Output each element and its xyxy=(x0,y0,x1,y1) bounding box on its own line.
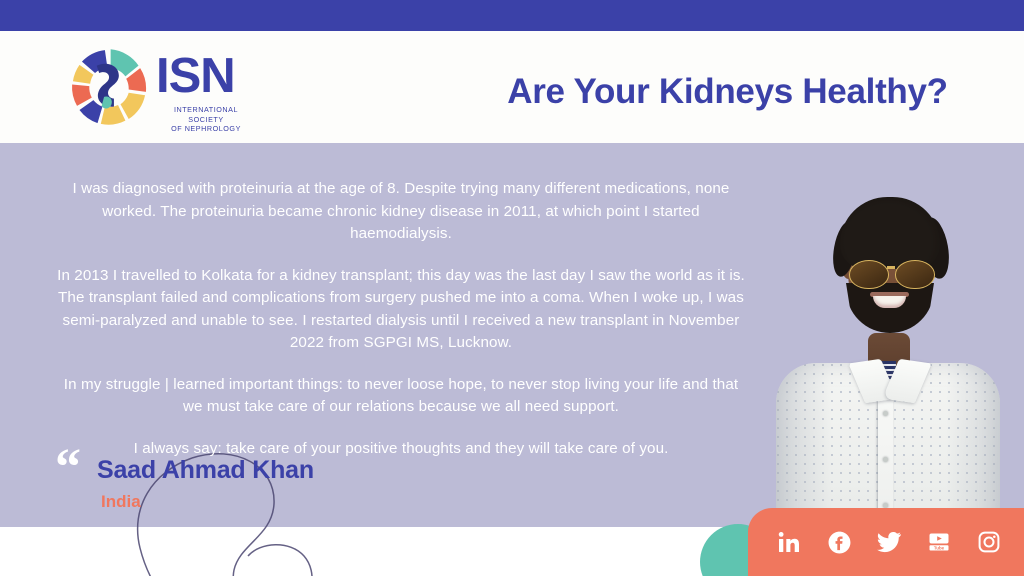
logo-text: ISN xyxy=(156,52,256,101)
story-quote: I was diagnosed with proteinuria at the … xyxy=(56,178,746,460)
twitter-icon[interactable] xyxy=(876,529,902,555)
isn-logo[interactable]: ISN INTERNATIONAL SOCIETY OF NEPHROLOGY xyxy=(68,42,253,134)
portrait-shirt-button xyxy=(883,457,888,462)
portrait-hair xyxy=(840,197,940,269)
portrait-lens-left xyxy=(849,260,889,289)
logo-subtitle-line2: OF NEPHROLOGY xyxy=(171,124,241,133)
isn-circular-kidney-logo-icon xyxy=(68,46,150,128)
author-name: Saad Ahmad Khan xyxy=(97,456,314,485)
story-paragraph: In my struggle | learned important thing… xyxy=(56,374,746,419)
portrait-beard xyxy=(846,283,934,333)
portrait-lens-right xyxy=(895,260,935,289)
story-paragraph: In 2013 I travelled to Kolkata for a kid… xyxy=(56,265,746,355)
instagram-icon[interactable] xyxy=(976,529,1002,555)
slide-canvas: ISN INTERNATIONAL SOCIETY OF NEPHROLOGY … xyxy=(0,0,1024,576)
logo-subtitle-line1: INTERNATIONAL SOCIETY xyxy=(174,105,238,124)
story-paragraph: I was diagnosed with proteinuria at the … xyxy=(56,178,746,246)
top-accent-bar xyxy=(0,0,1024,31)
logo-subtitle: INTERNATIONAL SOCIETY OF NEPHROLOGY xyxy=(156,105,256,134)
portrait-glasses-bridge xyxy=(887,266,895,269)
facebook-icon[interactable] xyxy=(826,529,852,555)
portrait-shirt-button xyxy=(883,411,888,416)
youtube-icon[interactable]: Tube xyxy=(926,529,952,555)
linkedin-icon[interactable] xyxy=(776,529,802,555)
portrait-sunglasses-icon xyxy=(847,260,935,287)
portrait-alt-text: Portrait of Saad Ahmad Khan wearing sung… xyxy=(770,165,771,166)
quote-mark-icon: “ xyxy=(55,449,81,487)
page-title: Are Your Kidneys Healthy? xyxy=(455,72,1000,112)
social-bar: Tube xyxy=(748,508,1024,576)
svg-text:Tube: Tube xyxy=(934,545,945,550)
author-country: India xyxy=(101,492,141,512)
isn-wordmark: ISN INTERNATIONAL SOCIETY OF NEPHROLOGY xyxy=(156,52,256,134)
